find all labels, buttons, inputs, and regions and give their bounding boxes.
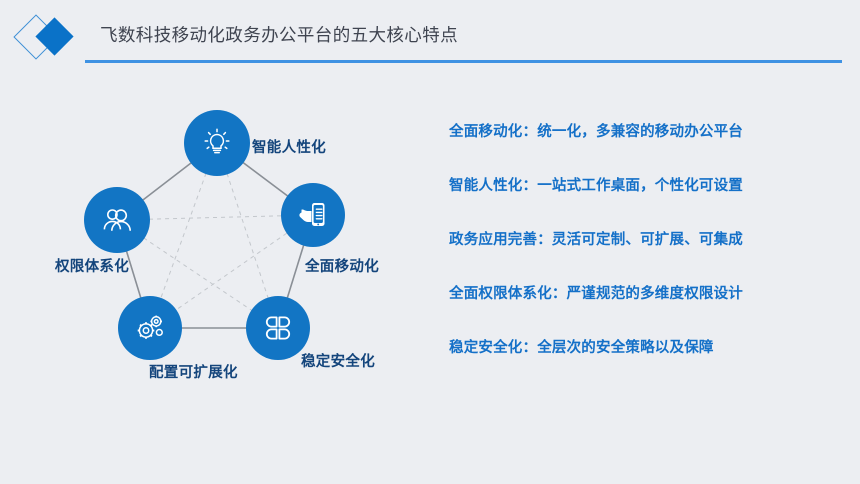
node-label-config: 配置可扩展化 <box>149 361 238 382</box>
header-divider <box>85 60 842 63</box>
node-intelligent[interactable] <box>184 110 250 176</box>
node-mobile[interactable] <box>281 183 345 247</box>
feature-item: 全面权限体系化：严谨规范的多维度权限设计 <box>449 282 849 336</box>
feature-item: 全面移动化：统一化，多兼容的移动办公平台 <box>449 120 849 174</box>
node-permission[interactable] <box>84 187 150 253</box>
gears-icon <box>133 311 167 345</box>
node-label-stable: 稳定安全化 <box>301 350 375 371</box>
node-label-intelligent: 智能人性化 <box>252 136 326 157</box>
node-label-permission: 权限体系化 <box>55 255 129 276</box>
pentagon-diagram: 智能人性化 全面移动化 <box>55 95 440 395</box>
feature-item: 政务应用完善：灵活可定制、可扩展、可集成 <box>449 228 849 282</box>
feature-list: 全面移动化：统一化，多兼容的移动办公平台 智能人性化：一站式工作桌面，个性化可设… <box>449 120 849 390</box>
hand-phone-icon <box>297 199 329 231</box>
node-config[interactable] <box>118 296 182 360</box>
feature-item: 稳定安全化：全层次的安全策略以及保障 <box>449 336 849 390</box>
node-label-mobile: 全面移动化 <box>305 255 379 276</box>
clover-icon <box>262 312 294 344</box>
feature-item: 智能人性化：一站式工作桌面，个性化可设置 <box>449 174 849 228</box>
users-icon <box>100 203 134 237</box>
brand-logo <box>14 14 94 62</box>
slide-canvas: 飞数科技移动化政务办公平台的五大核心特点 <box>0 0 860 484</box>
lightbulb-icon <box>200 126 234 160</box>
page-title: 飞数科技移动化政务办公平台的五大核心特点 <box>100 22 458 47</box>
